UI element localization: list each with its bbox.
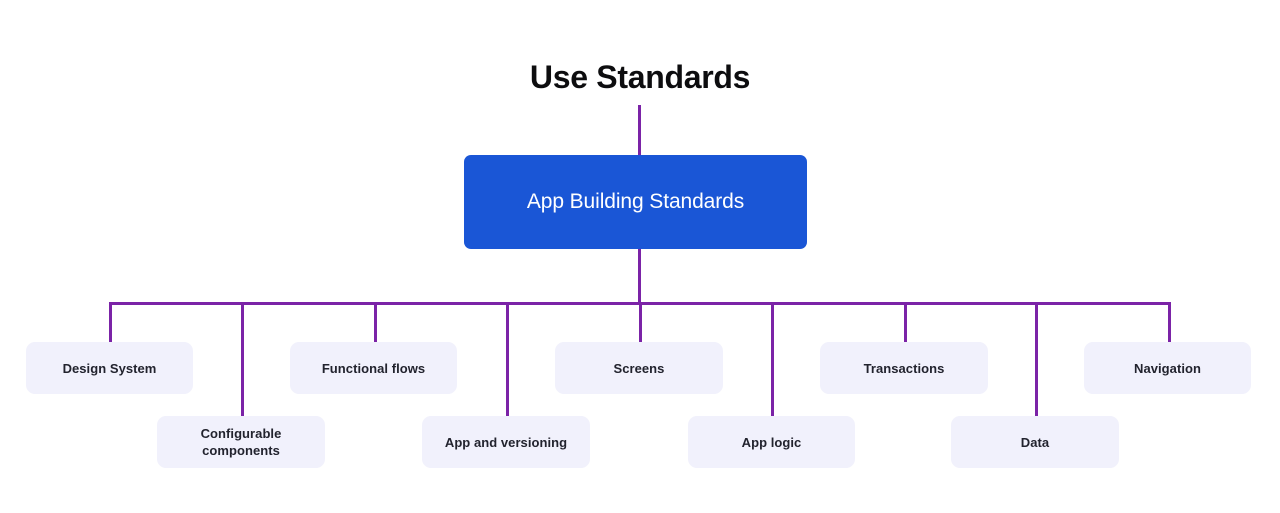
leaf-node-label: App and versioning bbox=[445, 434, 567, 451]
leaf-node-label: App logic bbox=[742, 434, 802, 451]
leaf-node-app-logic[interactable]: App logic bbox=[688, 416, 855, 468]
leaf-node-navigation[interactable]: Navigation bbox=[1084, 342, 1251, 394]
root-node-label: App Building Standards bbox=[527, 188, 744, 216]
connector-drop-app-and-versioning bbox=[506, 302, 509, 416]
diagram-canvas: Use Standards App Building Standards Des… bbox=[0, 0, 1280, 513]
leaf-node-label: Design System bbox=[63, 360, 157, 377]
connector-drop-configurable-components bbox=[241, 302, 244, 416]
leaf-node-transactions[interactable]: Transactions bbox=[820, 342, 988, 394]
leaf-node-screens[interactable]: Screens bbox=[555, 342, 723, 394]
connector-root-to-bus bbox=[638, 249, 641, 303]
connector-title-to-root bbox=[638, 105, 641, 155]
connector-drop-app-logic bbox=[771, 302, 774, 416]
leaf-node-functional-flows[interactable]: Functional flows bbox=[290, 342, 457, 394]
connector-drop-data bbox=[1035, 302, 1038, 416]
leaf-node-data[interactable]: Data bbox=[951, 416, 1119, 468]
leaf-node-label: Functional flows bbox=[322, 360, 425, 377]
connector-drop-functional-flows bbox=[374, 302, 377, 342]
page-title: Use Standards bbox=[0, 55, 1280, 99]
leaf-node-app-and-versioning[interactable]: App and versioning bbox=[422, 416, 590, 468]
connector-drop-screens bbox=[639, 302, 642, 342]
leaf-node-label: Data bbox=[1021, 434, 1049, 451]
leaf-node-design-system[interactable]: Design System bbox=[26, 342, 193, 394]
connector-drop-design-system bbox=[109, 302, 112, 342]
connector-drop-transactions bbox=[904, 302, 907, 342]
leaf-node-configurable-components[interactable]: Configurable components bbox=[157, 416, 325, 468]
root-node-app-building-standards[interactable]: App Building Standards bbox=[464, 155, 807, 249]
leaf-node-label: Configurable components bbox=[167, 425, 315, 459]
leaf-node-label: Navigation bbox=[1134, 360, 1201, 377]
leaf-node-label: Transactions bbox=[864, 360, 945, 377]
connector-drop-navigation bbox=[1168, 302, 1171, 342]
leaf-node-label: Screens bbox=[614, 360, 665, 377]
